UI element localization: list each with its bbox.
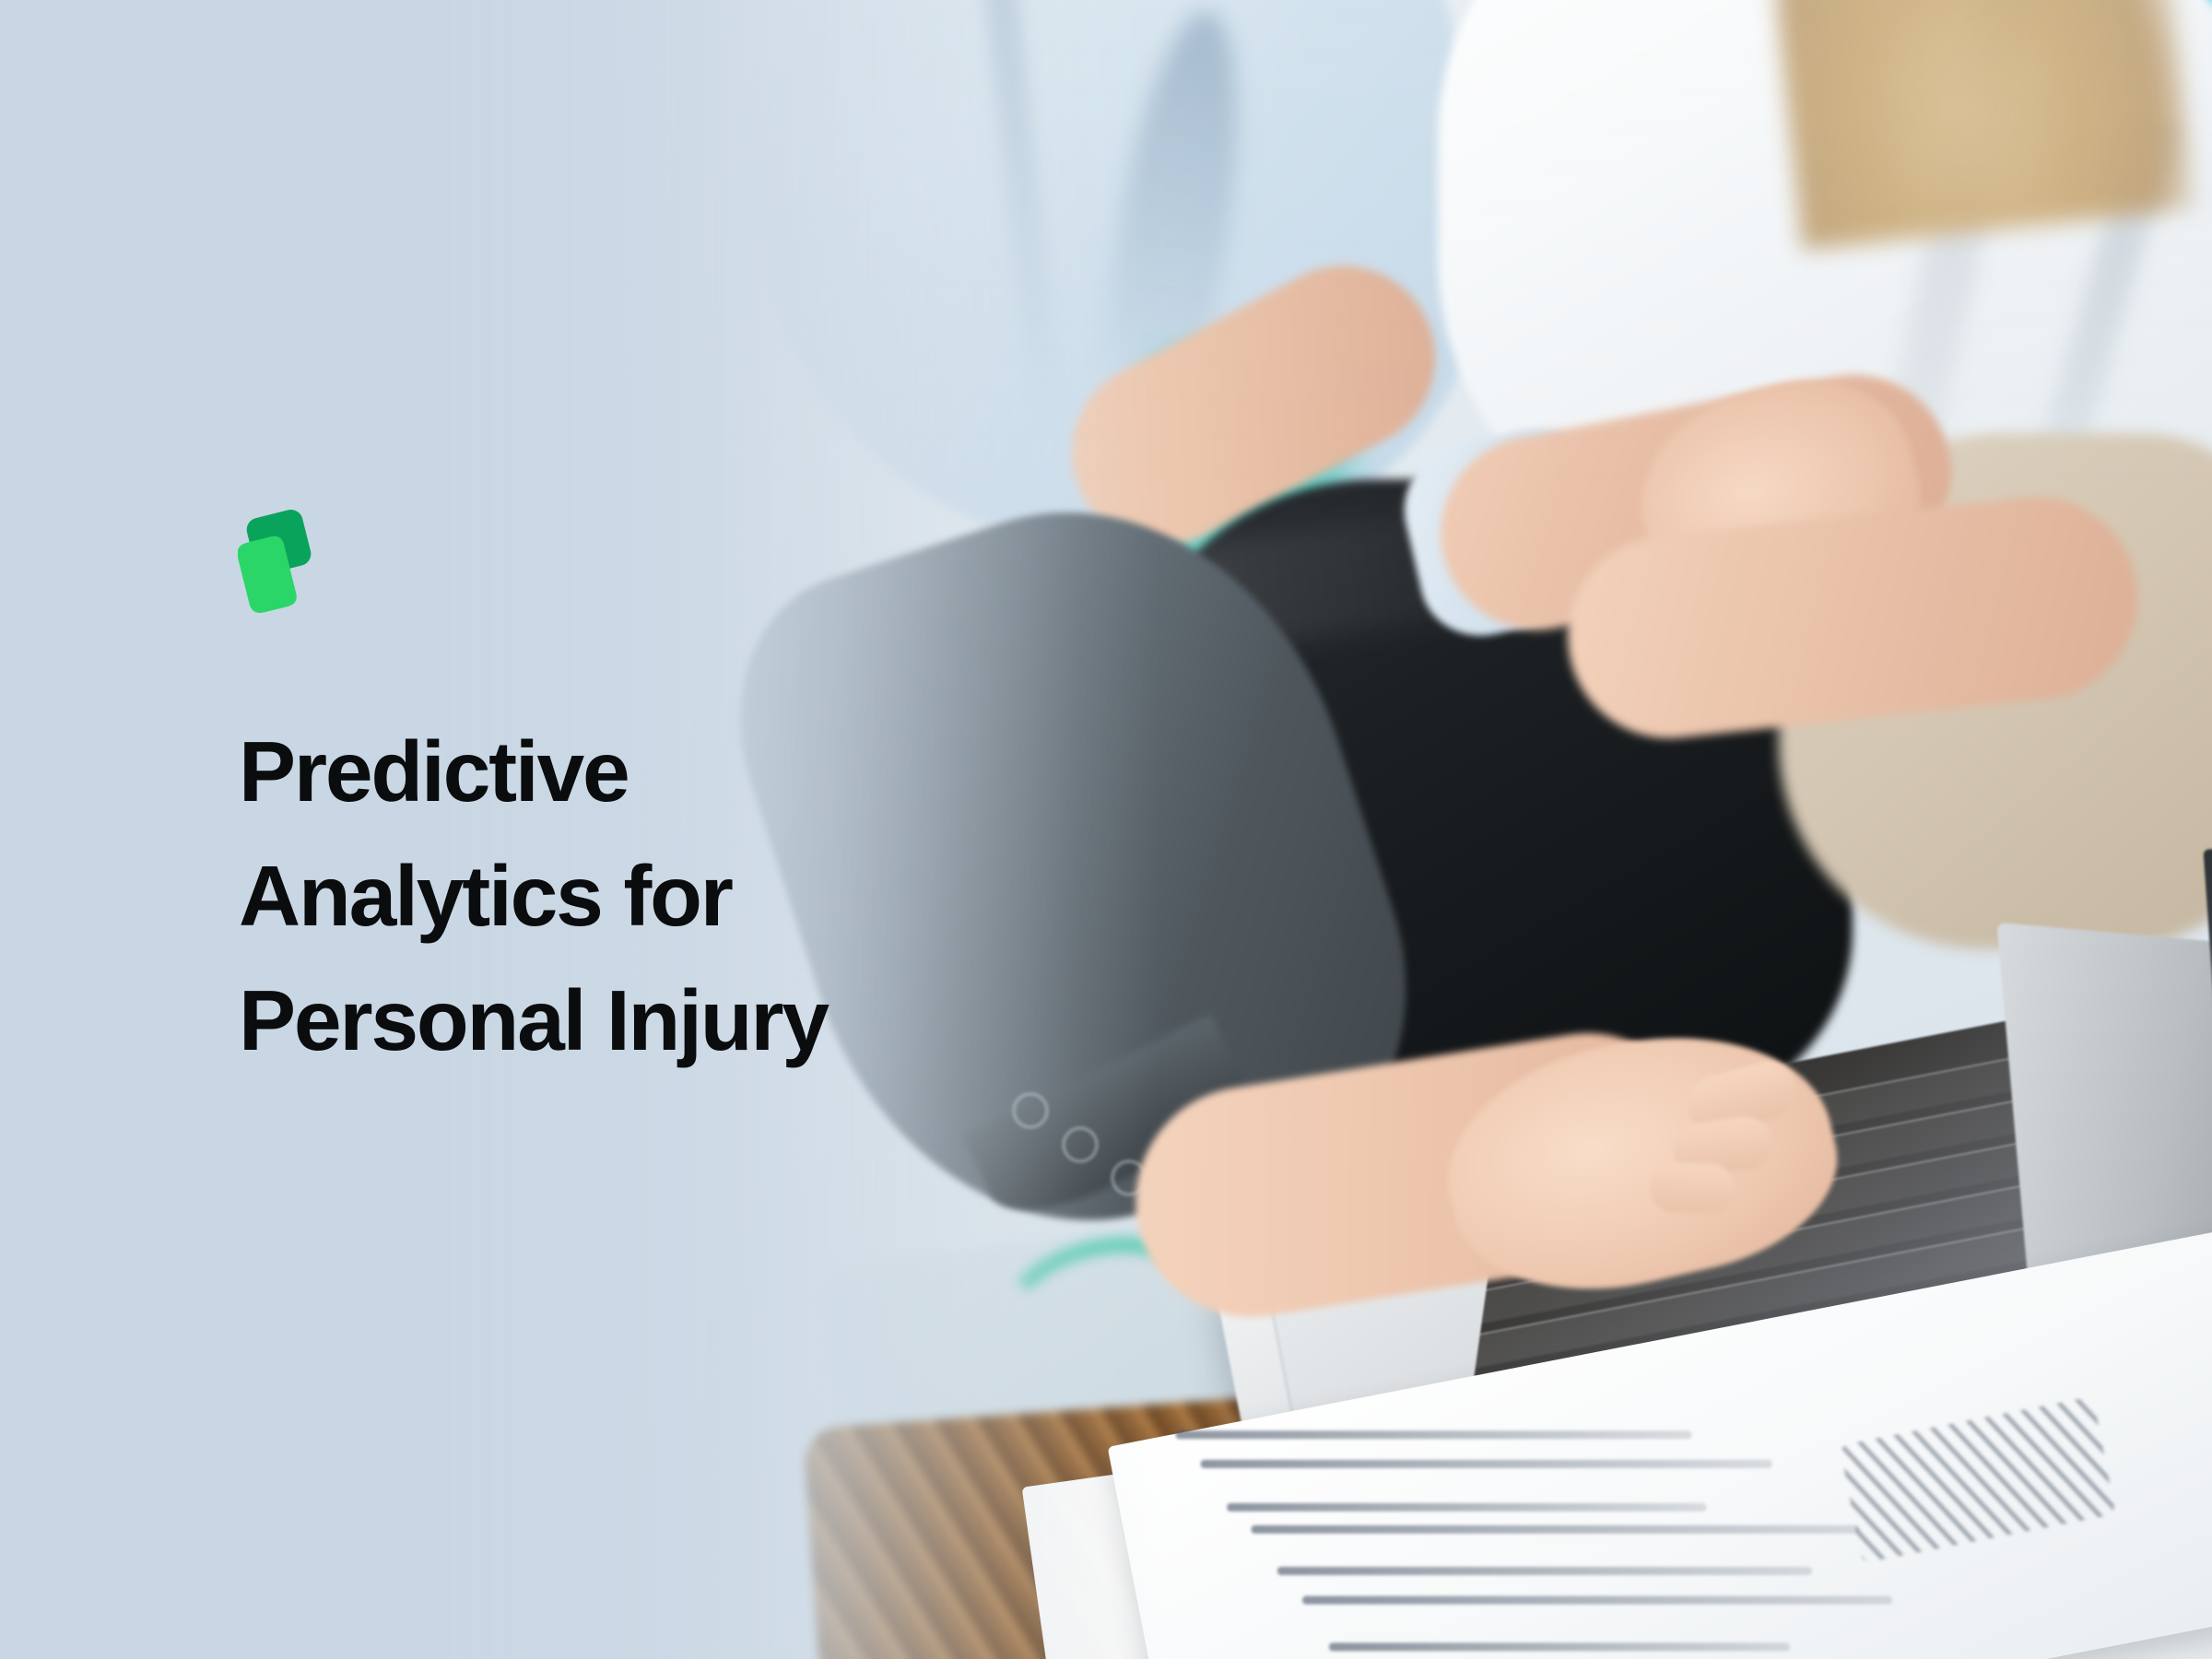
headline-line-1: Predictive [239,710,1114,834]
hero-card: Predictive Analytics for Personal Injury [0,0,2212,1659]
page-title: Predictive Analytics for Personal Injury [239,710,1114,1083]
headline-line-2: Analytics for [239,834,1114,959]
headline-line-3: Personal Injury [239,959,1114,1083]
blonde-hair [1758,0,2197,250]
finger-3 [1649,1161,1735,1214]
hero-content: Predictive Analytics for Personal Injury [0,0,1161,1659]
brand-logo-icon[interactable] [238,510,317,613]
